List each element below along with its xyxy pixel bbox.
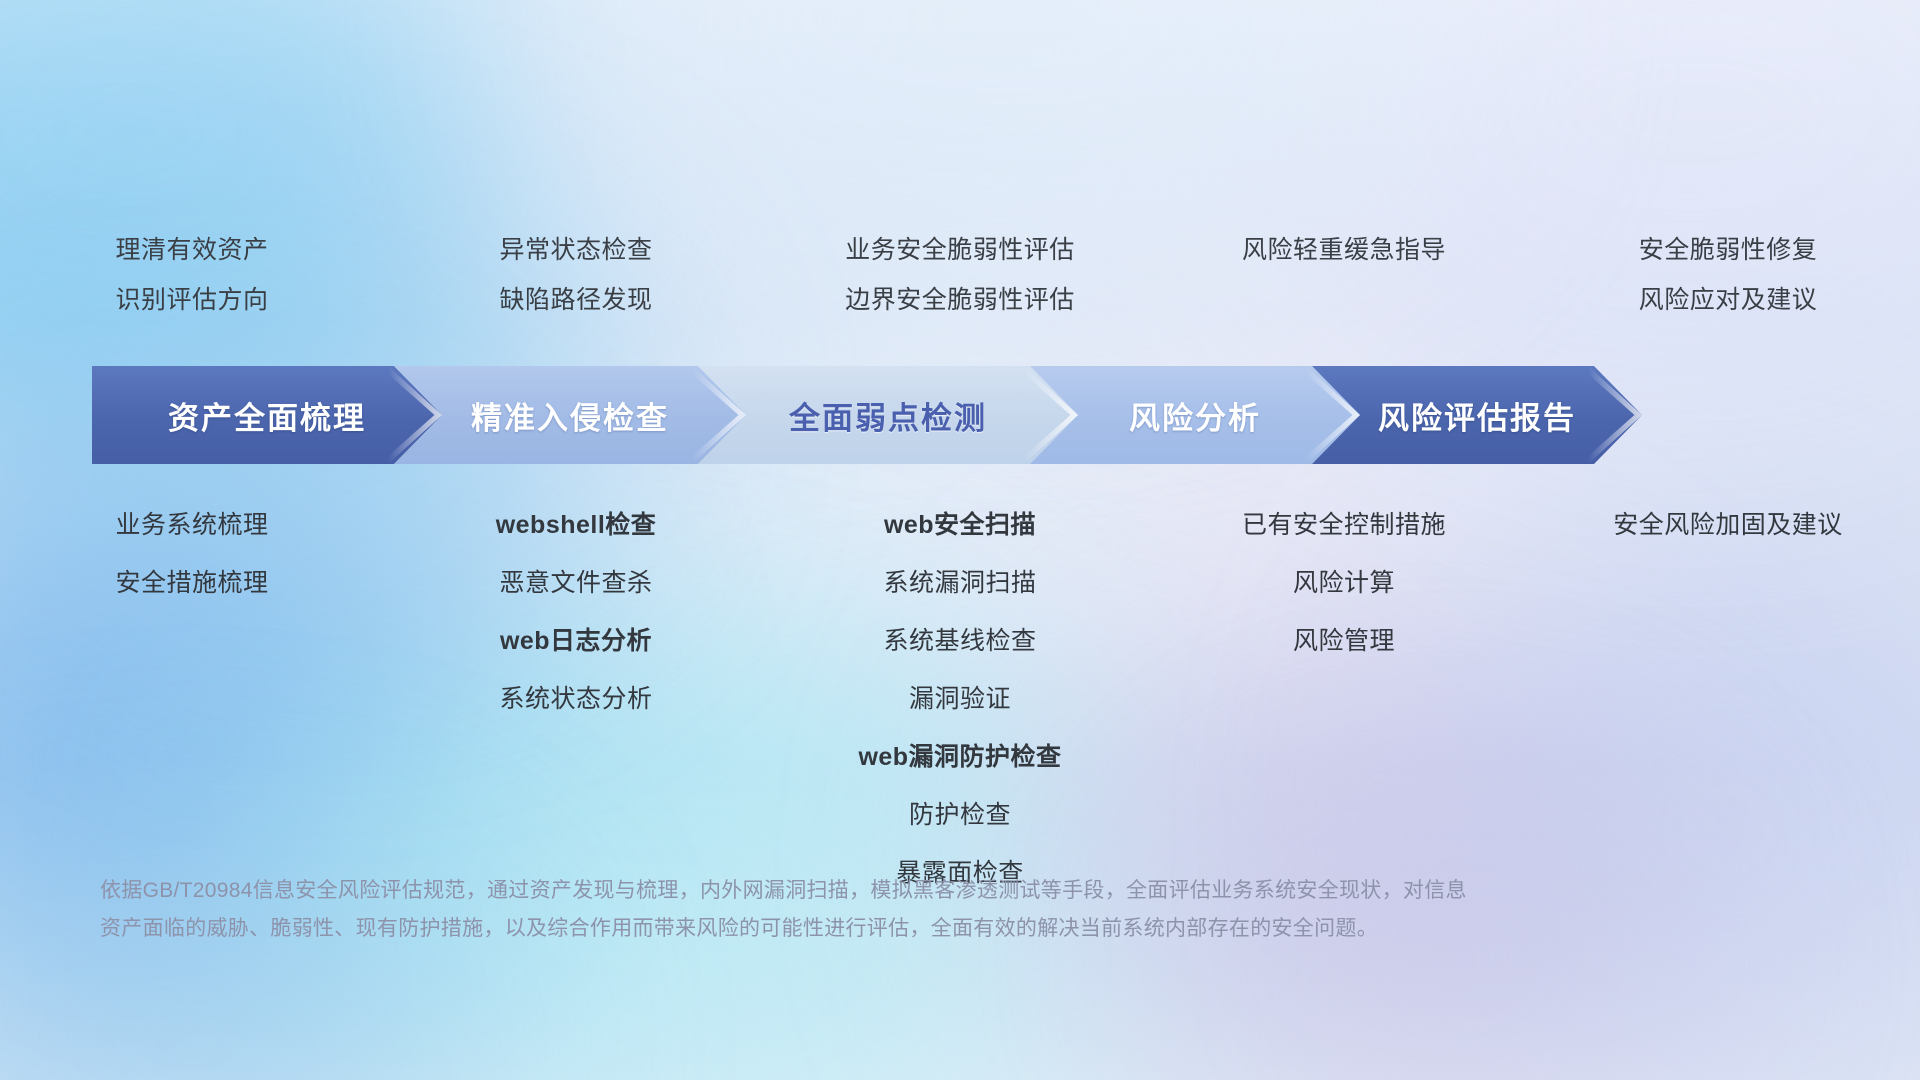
stage-arrow-2[interactable]: 精准入侵检查 <box>394 366 746 464</box>
top-captions-row: 理清有效资产识别评估方向异常状态检查缺陷路径发现业务安全脆弱性评估边界安全脆弱性… <box>0 230 1920 340</box>
footer-line-1: 依据GB/T20984信息安全风险评估规范，通过资产发现与梳理，内外网漏洞扫描，… <box>100 872 1720 910</box>
stage-item: 风险计算 <box>1293 563 1395 599</box>
stage-item: web日志分析 <box>500 621 652 657</box>
stage-item: 系统基线检查 <box>883 621 1036 657</box>
stage-item: 漏洞验证 <box>909 679 1011 715</box>
stage-item: 系统漏洞扫描 <box>883 563 1036 599</box>
stage-arrow-label: 全面弱点检测 <box>789 393 987 438</box>
stage-arrow-5[interactable]: 风险评估报告 <box>1312 366 1642 464</box>
stage-items-column: 已有安全控制措施风险计算风险管理 <box>1152 505 1536 657</box>
top-caption-column: 安全脆弱性修复风险应对及建议 <box>1536 230 1920 340</box>
stage-item: 风险管理 <box>1293 621 1395 657</box>
top-caption-line: 缺陷路径发现 <box>499 280 652 316</box>
stage-item: 恶意文件查杀 <box>499 563 652 599</box>
stage-item: 业务系统梳理 <box>115 505 268 541</box>
stage-arrow-label: 风险分析 <box>1129 393 1261 438</box>
top-caption-column: 风险轻重缓急指导 <box>1152 230 1536 340</box>
stage-items-column: 业务系统梳理安全措施梳理 <box>0 505 384 599</box>
top-caption-line: 边界安全脆弱性评估 <box>845 280 1075 316</box>
top-caption-line: 异常状态检查 <box>499 230 652 266</box>
stage-item: 安全风险加固及建议 <box>1613 505 1843 541</box>
stage-item: webshell检查 <box>496 505 657 541</box>
top-caption-line: 业务安全脆弱性评估 <box>845 230 1075 266</box>
stage-item: web漏洞防护检查 <box>858 737 1061 773</box>
stage-arrow-4[interactable]: 风险分析 <box>1030 366 1360 464</box>
stage-arrow-label: 精准入侵检查 <box>471 393 669 438</box>
top-caption-column: 异常状态检查缺陷路径发现 <box>384 230 768 340</box>
process-diagram: 理清有效资产识别评估方向异常状态检查缺陷路径发现业务安全脆弱性评估边界安全脆弱性… <box>0 0 1920 1080</box>
stage-arrow-label: 风险评估报告 <box>1378 393 1576 438</box>
stage-items-column: 安全风险加固及建议 <box>1536 505 1920 541</box>
top-caption-line: 风险轻重缓急指导 <box>1242 230 1446 266</box>
top-caption-line: 安全脆弱性修复 <box>1639 230 1818 266</box>
stage-items-row: 业务系统梳理安全措施梳理webshell检查恶意文件查杀web日志分析系统状态分… <box>0 505 1920 889</box>
stage-item: web安全扫描 <box>884 505 1036 541</box>
top-caption-line: 识别评估方向 <box>115 280 268 316</box>
stage-arrow-3[interactable]: 全面弱点检测 <box>698 366 1078 464</box>
top-caption-column: 理清有效资产识别评估方向 <box>0 230 384 340</box>
stage-item: 已有安全控制措施 <box>1242 505 1446 541</box>
top-caption-line: 风险应对及建议 <box>1639 280 1818 316</box>
stage-items-column: webshell检查恶意文件查杀web日志分析系统状态分析 <box>384 505 768 715</box>
stage-item: 系统状态分析 <box>499 679 652 715</box>
top-caption-line: 理清有效资产 <box>115 230 268 266</box>
top-caption-column: 业务安全脆弱性评估边界安全脆弱性评估 <box>768 230 1152 340</box>
stage-item: 安全措施梳理 <box>115 563 268 599</box>
stage-arrow-1[interactable]: 资产全面梳理 <box>92 366 442 464</box>
stage-items-column: web安全扫描系统漏洞扫描系统基线检查漏洞验证web漏洞防护检查防护检查暴露面检… <box>768 505 1152 889</box>
stage-arrow-label: 资产全面梳理 <box>168 393 366 438</box>
stage-item: 防护检查 <box>909 795 1011 831</box>
stage-arrow-banner: 资产全面梳理精准入侵检查全面弱点检测风险分析风险评估报告 <box>92 366 1834 464</box>
footer-description: 依据GB/T20984信息安全风险评估规范，通过资产发现与梳理，内外网漏洞扫描，… <box>100 872 1720 948</box>
footer-line-2: 资产面临的威胁、脆弱性、现有防护措施，以及综合作用而带来风险的可能性进行评估，全… <box>100 910 1720 948</box>
